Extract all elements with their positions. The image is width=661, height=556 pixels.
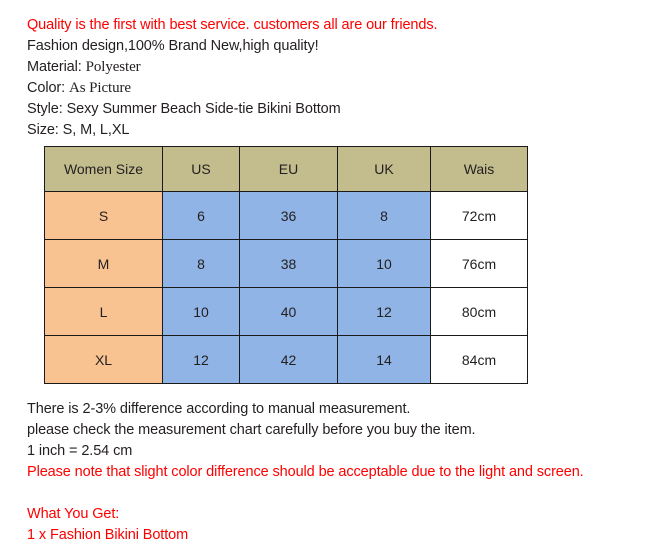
spec-material-label: Material: <box>27 59 82 75</box>
cell-waist: 76cm <box>431 240 528 288</box>
cell-us: 8 <box>163 240 240 288</box>
cell-size: L <box>45 288 163 336</box>
measurement-notes: There is 2-3% difference according to ma… <box>27 399 659 546</box>
column-header-us: US <box>163 147 240 192</box>
spec-color: Color: As Picture <box>27 78 647 99</box>
spec-material-value: Polyester <box>86 59 141 75</box>
cell-uk: 12 <box>338 288 431 336</box>
cell-eu: 38 <box>240 240 338 288</box>
table-row: XL 12 42 14 84cm <box>45 336 528 384</box>
cell-uk: 14 <box>338 336 431 384</box>
column-header-women-size: Women Size <box>45 147 163 192</box>
spec-material: Material: Polyester <box>27 57 647 78</box>
note-inch-conversion: 1 inch = 2.54 cm <box>27 441 659 462</box>
cell-uk: 10 <box>338 240 431 288</box>
cell-us: 6 <box>163 192 240 240</box>
cell-us: 10 <box>163 288 240 336</box>
note-tolerance: There is 2-3% difference according to ma… <box>27 399 659 420</box>
note-color-difference: Please note that slight color difference… <box>27 462 659 483</box>
cell-size: XL <box>45 336 163 384</box>
cell-size: M <box>45 240 163 288</box>
cell-us: 12 <box>163 336 240 384</box>
cell-eu: 40 <box>240 288 338 336</box>
cell-waist: 84cm <box>431 336 528 384</box>
spec-size: Size: S, M, L,XL <box>27 120 647 141</box>
spec-color-label: Color: <box>27 80 65 96</box>
spec-style: Style: Sexy Summer Beach Side-tie Bikini… <box>27 99 647 120</box>
table-header-row: Women Size US EU UK Wais <box>45 147 528 192</box>
cell-eu: 36 <box>240 192 338 240</box>
tagline-quality-service: Quality is the first with best service. … <box>27 15 647 36</box>
table-row: M 8 38 10 76cm <box>45 240 528 288</box>
spec-color-value: As Picture <box>69 80 131 96</box>
product-description-top: Quality is the first with best service. … <box>27 15 647 141</box>
table-row: S 6 36 8 72cm <box>45 192 528 240</box>
size-chart-table: Women Size US EU UK Wais S 6 36 8 72cm M <box>44 146 528 384</box>
cell-uk: 8 <box>338 192 431 240</box>
cell-waist: 72cm <box>431 192 528 240</box>
tagline-fashion-design: Fashion design,100% Brand New,high quali… <box>27 36 647 57</box>
size-chart-container: Women Size US EU UK Wais S 6 36 8 72cm M <box>44 146 527 384</box>
column-header-uk: UK <box>338 147 431 192</box>
table-row: L 10 40 12 80cm <box>45 288 528 336</box>
what-you-get-item: 1 x Fashion Bikini Bottom <box>27 525 659 546</box>
cell-size: S <box>45 192 163 240</box>
notes-spacer <box>27 483 659 504</box>
what-you-get-title: What You Get: <box>27 504 659 525</box>
note-check-chart: please check the measurement chart caref… <box>27 420 659 441</box>
cell-waist: 80cm <box>431 288 528 336</box>
product-description-page: Quality is the first with best service. … <box>0 0 661 556</box>
column-header-eu: EU <box>240 147 338 192</box>
column-header-waist: Wais <box>431 147 528 192</box>
cell-eu: 42 <box>240 336 338 384</box>
